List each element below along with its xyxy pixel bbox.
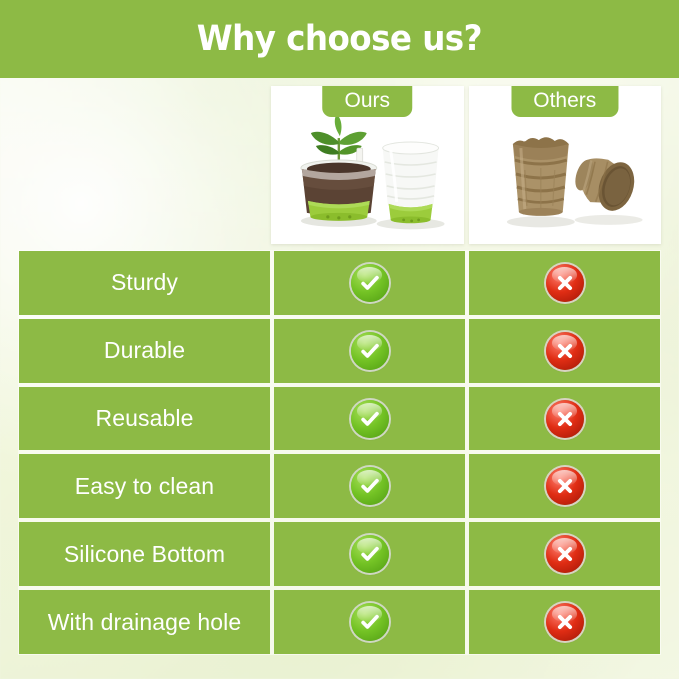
check-circle-icon bbox=[351, 535, 389, 573]
header-banner: Why choose us? bbox=[0, 0, 679, 78]
cross-circle-icon bbox=[546, 400, 584, 438]
comparison-table: SturdyDurableReusableEasy to cleanSilico… bbox=[18, 250, 661, 655]
cell-ours bbox=[274, 522, 465, 586]
panel-badge-ours: Ours bbox=[322, 86, 412, 117]
table-row: Durable bbox=[19, 319, 660, 383]
cross-circle-icon bbox=[546, 603, 584, 641]
table-row: Reusable bbox=[19, 387, 660, 451]
panel-badge-others: Others bbox=[511, 86, 618, 117]
cell-ours bbox=[274, 251, 465, 315]
comparison-infographic: Why choose us? bbox=[0, 0, 679, 679]
cell-others bbox=[469, 387, 660, 451]
cross-circle-icon bbox=[546, 467, 584, 505]
cell-others bbox=[469, 319, 660, 383]
check-circle-icon bbox=[351, 400, 389, 438]
cell-others bbox=[469, 590, 660, 654]
table-row: With drainage hole bbox=[19, 590, 660, 654]
product-panels: Ours bbox=[271, 86, 661, 244]
cell-ours bbox=[274, 454, 465, 518]
feature-label: Easy to clean bbox=[19, 454, 270, 518]
table-row: Easy to clean bbox=[19, 454, 660, 518]
page-title: Why choose us? bbox=[197, 19, 482, 59]
cell-ours bbox=[274, 590, 465, 654]
cell-others bbox=[469, 454, 660, 518]
cell-ours bbox=[274, 387, 465, 451]
panel-others: Others bbox=[469, 86, 662, 244]
table-row: Silicone Bottom bbox=[19, 522, 660, 586]
table-row: Sturdy bbox=[19, 251, 660, 315]
feature-label: Sturdy bbox=[19, 251, 270, 315]
check-circle-icon bbox=[351, 467, 389, 505]
cross-circle-icon bbox=[546, 264, 584, 302]
cross-circle-icon bbox=[546, 332, 584, 370]
cross-circle-icon bbox=[546, 535, 584, 573]
panel-ours: Ours bbox=[271, 86, 464, 244]
cell-others bbox=[469, 522, 660, 586]
check-circle-icon bbox=[351, 603, 389, 641]
feature-label: Durable bbox=[19, 319, 270, 383]
feature-label: With drainage hole bbox=[19, 590, 270, 654]
cell-ours bbox=[274, 319, 465, 383]
feature-label: Reusable bbox=[19, 387, 270, 451]
cell-others bbox=[469, 251, 660, 315]
feature-label: Silicone Bottom bbox=[19, 522, 270, 586]
check-circle-icon bbox=[351, 332, 389, 370]
check-circle-icon bbox=[351, 264, 389, 302]
